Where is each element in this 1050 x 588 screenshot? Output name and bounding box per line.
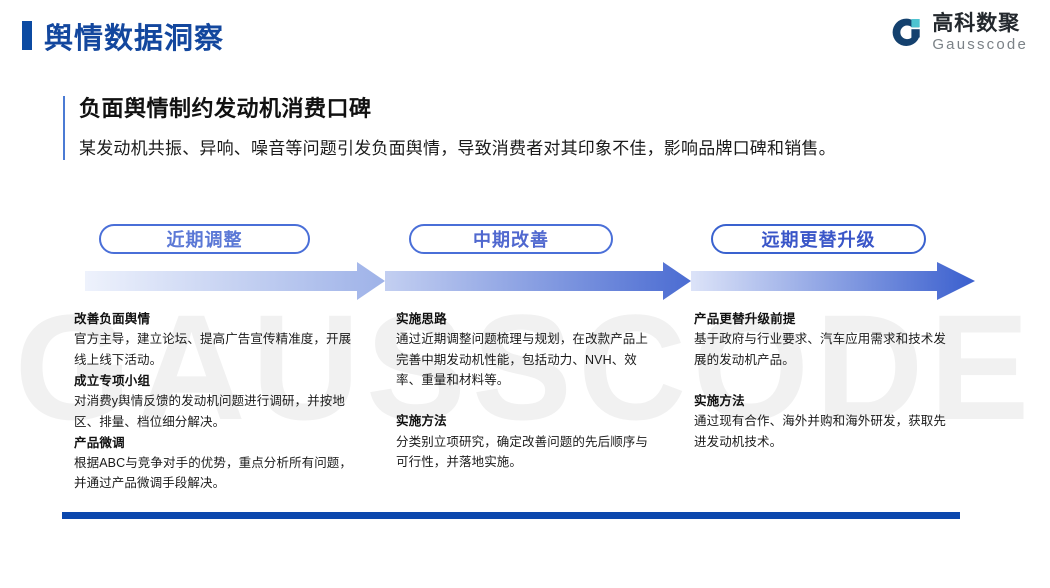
footer-bar <box>62 512 960 519</box>
brand-logo: 高科数聚 Gausscode <box>890 13 1028 52</box>
lead-subtitle: 某发动机共振、异响、噪音等问题引发负面舆情，导致消费者对其印象不佳，影响品牌口碑… <box>79 138 999 160</box>
lead-block: 负面舆情制约发动机消费口碑 某发动机共振、异响、噪音等问题引发负面舆情，导致消费… <box>63 96 999 160</box>
phase-column-mid-term: 实施思路 通过近期调整问题梳理与规划，在改款产品上完善中期发动机性能，包括动力、… <box>396 310 656 474</box>
detail-block: 产品微调 根据ABC与竞争对手的优势，重点分析所有问题，并通过产品微调手段解决。 <box>74 434 354 494</box>
phase-detail-columns: 改善负面舆情 官方主导，建立论坛、提高广告宣传精准度，开展线上线下活动。 成立专… <box>0 310 1050 500</box>
phase-column-near-term: 改善负面舆情 官方主导，建立论坛、提高广告宣传精准度，开展线上线下活动。 成立专… <box>74 310 354 496</box>
detail-heading: 产品更替升级前提 <box>694 310 956 329</box>
brand-name-en: Gausscode <box>932 37 1028 52</box>
phase-pill-long-term[interactable]: 远期更替升级 <box>711 224 926 254</box>
gausscode-mark-icon <box>890 16 923 49</box>
phase-column-long-term: 产品更替升级前提 基于政府与行业要求、汽车应用需求和技术发展的发动机产品。 实施… <box>694 310 956 454</box>
slide-header: 舆情数据洞察 高科数聚 Gausscode <box>0 0 1050 72</box>
detail-heading: 实施方法 <box>396 412 656 431</box>
detail-body: 官方主导，建立论坛、提高广告宣传精准度，开展线上线下活动。 <box>74 329 354 370</box>
detail-block: 产品更替升级前提 基于政府与行业要求、汽车应用需求和技术发展的发动机产品。 <box>694 310 956 370</box>
detail-heading: 改善负面舆情 <box>74 310 354 329</box>
detail-heading: 成立专项小组 <box>74 372 354 391</box>
phase-pill-label: 中期改善 <box>473 226 549 252</box>
detail-block: 改善负面舆情 官方主导，建立论坛、提高广告宣传精准度，开展线上线下活动。 <box>74 310 354 370</box>
lead-title: 负面舆情制约发动机消费口碑 <box>79 96 999 122</box>
brand-name-cn: 高科数聚 <box>932 13 1028 34</box>
detail-heading: 实施思路 <box>396 310 656 329</box>
phase-pill-mid-term[interactable]: 中期改善 <box>409 224 613 254</box>
detail-body: 分类别立项研究，确定改善问题的先后顺序与可行性，并落地实施。 <box>396 432 656 473</box>
detail-body: 通过近期调整问题梳理与规划，在改款产品上完善中期发动机性能，包括动力、NVH、效… <box>396 329 656 390</box>
detail-body: 通过现有合作、海外并购和海外研发，获取先进发动机技术。 <box>694 411 956 452</box>
slide-canvas: GAUSSCODE 舆情数据洞察 高科数聚 Gausscode 负面舆情制约发动… <box>0 0 1050 588</box>
header-accent-bar <box>22 21 32 50</box>
detail-body: 基于政府与行业要求、汽车应用需求和技术发展的发动机产品。 <box>694 329 956 370</box>
detail-body: 对消费y舆情反馈的发动机问题进行调研，并按地区、排量、档位细分解决。 <box>74 391 354 432</box>
detail-body: 根据ABC与竞争对手的优势，重点分析所有问题，并通过产品微调手段解决。 <box>74 453 354 494</box>
page-title: 舆情数据洞察 <box>44 15 224 57</box>
detail-heading: 实施方法 <box>694 392 956 411</box>
detail-block: 实施思路 通过近期调整问题梳理与规划，在改款产品上完善中期发动机性能，包括动力、… <box>396 310 656 390</box>
detail-block: 成立专项小组 对消费y舆情反馈的发动机问题进行调研，并按地区、排量、档位细分解决… <box>74 372 354 432</box>
brand-logo-text: 高科数聚 Gausscode <box>932 13 1028 52</box>
detail-block: 实施方法 通过现有合作、海外并购和海外研发，获取先进发动机技术。 <box>694 392 956 452</box>
phase-pill-label: 远期更替升级 <box>762 226 876 252</box>
phase-pill-label: 近期调整 <box>167 226 243 252</box>
detail-heading: 产品微调 <box>74 434 354 453</box>
phase-pill-near-term[interactable]: 近期调整 <box>99 224 310 254</box>
detail-block: 实施方法 分类别立项研究，确定改善问题的先后顺序与可行性，并落地实施。 <box>396 412 656 472</box>
timeline-arrow <box>85 262 975 300</box>
